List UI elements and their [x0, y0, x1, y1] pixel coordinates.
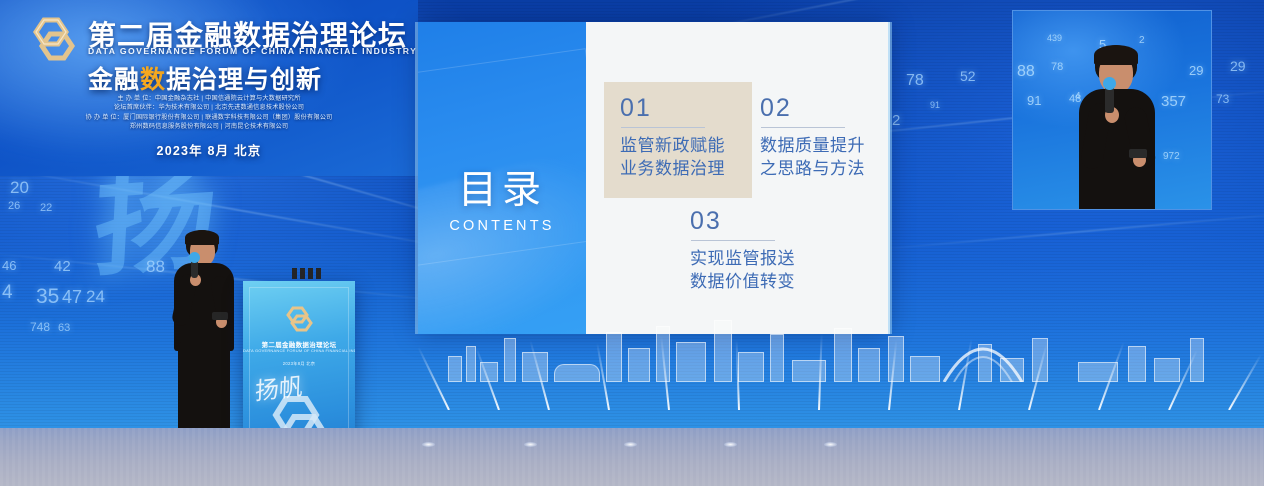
floor-light: [824, 442, 837, 447]
speaker-closeup-silhouette: [1071, 45, 1163, 210]
side-floating-number: 439: [1047, 33, 1062, 43]
clicker-icon: [1129, 149, 1147, 158]
toc-line-2: 数据价值转变: [690, 271, 795, 294]
speaker-hair-top: [1094, 45, 1138, 65]
toc-number: 01: [620, 94, 725, 122]
toc-item-02[interactable]: 02 数据质量提升 之思路与方法: [760, 94, 865, 181]
presentation-slide: 目录 CONTENTS 01 监管新政赋能 业务数据治理 02 数据质量提升 之…: [418, 22, 890, 334]
banner-subtitle-en: DATA GOVERNANCE FORUM OF CHINA FINANCIAL…: [88, 46, 417, 56]
banner-date-location: 2023年 8月 北京: [0, 140, 418, 159]
theme-part-1: 金融: [88, 65, 140, 94]
podium-subtitle-en: DATA GOVERNANCE FORUM OF CHINA FINANCIAL…: [243, 348, 355, 353]
podium-logo-icon: [281, 303, 317, 335]
theme-part-2: 据治理与创新: [166, 65, 322, 94]
toc-item-03[interactable]: 03 实现监管报送 数据价值转变: [690, 207, 795, 294]
mic-stand-icon: [290, 266, 324, 282]
banner-organizers: 主 办 单 位：中国金融杂志社 | 中国信通院云计算与大数据研究所 论坛首席伙伴…: [0, 94, 418, 132]
forum-logo-icon: [24, 12, 84, 66]
microphone-head: [1103, 77, 1116, 90]
theme-highlight-char: 数: [140, 65, 166, 94]
banner-theme: 金融数据治理与创新: [88, 60, 322, 96]
organizer-line: 协 办 单 位：厦门国际银行股份有限公司 | 联通数字科技有限公司（集团）股份有…: [0, 113, 418, 122]
toc-line-1: 实现监管报送: [690, 248, 795, 271]
microphone-head: [189, 252, 200, 263]
side-floating-number: 78: [1051, 61, 1063, 73]
side-floating-number: 357: [1161, 93, 1186, 110]
side-floating-number: 88: [1017, 63, 1035, 81]
toc-divider: [621, 127, 705, 128]
toc-number: 03: [690, 207, 795, 235]
organizer-line: 郑州数码信息服务股份有限公司 | 河南昆仑技术有限公司: [0, 122, 418, 131]
side-video-screen: 88 78 91 4 5 2 439 48 357 972 29: [1012, 10, 1212, 210]
floor-light: [624, 442, 637, 447]
toc-line-2: 之思路与方法: [760, 158, 865, 181]
screen-left-edge: [415, 22, 418, 334]
toc-divider: [691, 240, 775, 241]
organizer-line: 主 办 单 位：中国金融杂志社 | 中国信通院云计算与大数据研究所: [0, 94, 418, 103]
side-floating-number: 972: [1163, 151, 1180, 162]
cityscape-graphic: [418, 310, 1264, 410]
screen-right-edge: [888, 22, 892, 334]
side-floating-number: 29: [1189, 63, 1203, 78]
light-rays: [418, 330, 1264, 410]
toc-item-01[interactable]: 01 监管新政赋能 业务数据治理: [620, 94, 725, 181]
toc-line-1: 数据质量提升: [760, 135, 865, 158]
toc-line-2: 业务数据治理: [620, 158, 725, 181]
floor-light: [524, 442, 537, 447]
slide-section-title-cn: 目录: [418, 170, 586, 212]
toc-number: 02: [760, 94, 865, 122]
side-floating-number: 91: [1027, 93, 1041, 108]
floor-light: [422, 442, 435, 447]
stage-floor: [0, 428, 1264, 486]
toc-divider: [761, 127, 845, 128]
floor-light: [724, 442, 737, 447]
clicker-icon: [212, 312, 228, 320]
slide-left-panel: 目录 CONTENTS: [418, 22, 586, 334]
speaker-hair-top: [185, 230, 219, 245]
conference-stage-photo: 扬 20 26 22 46 42 88 35 47 24 748 63 87 4…: [0, 0, 1264, 486]
event-key-visual-banner: 第二届金融数据治理论坛 DATA GOVERNANCE FORUM OF CHI…: [0, 0, 418, 176]
toc-line-1: 监管新政赋能: [620, 135, 725, 158]
organizer-line: 论坛首席伙伴：华为技术有限公司 | 北京先进数通信息技术股份公司: [0, 103, 418, 112]
slide-section-title-en: CONTENTS: [418, 218, 586, 234]
